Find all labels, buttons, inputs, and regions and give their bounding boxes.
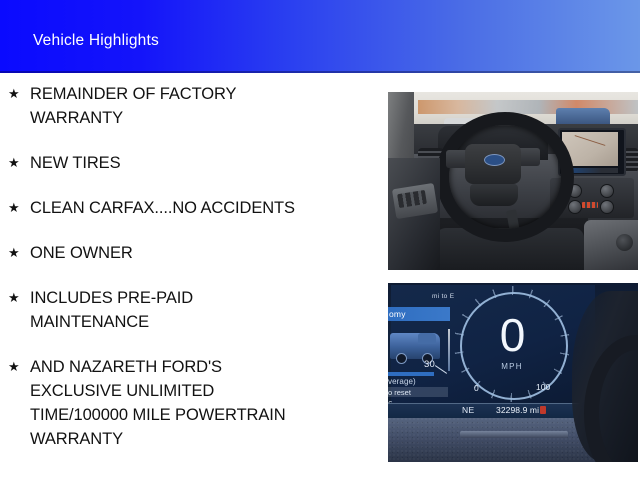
star-icon: ★ (8, 241, 30, 265)
list-item: ★ AND NAZARETH FORD'S EXCLUSIVE UNLIMITE… (0, 355, 380, 451)
vertical-gauge-bar (448, 329, 450, 371)
climate-knob-icon (600, 200, 614, 214)
highlight-text: REMAINDER OF FACTORY WARRANTY (30, 82, 380, 130)
star-icon: ★ (8, 196, 30, 220)
highlights-list: ★ REMAINDER OF FACTORY WARRANTY ★ NEW TI… (0, 82, 380, 472)
odometer-value: 32298.9 mi (496, 405, 539, 415)
fuel-warning-icon (540, 406, 546, 414)
defroster-vent (460, 431, 568, 438)
star-icon: ★ (8, 355, 30, 379)
highlight-text: NEW TIRES (30, 151, 380, 175)
page-title: Vehicle Highlights (33, 31, 159, 50)
speed-unit-label: MPH (460, 362, 564, 371)
cup-holder-icon (616, 234, 633, 251)
highlight-text: AND NAZARETH FORD'S EXCLUSIVE UNLIMITED … (30, 355, 380, 451)
climate-buttons (582, 202, 598, 208)
truck-cab-icon (418, 333, 436, 344)
compass-heading: NE (462, 405, 475, 415)
highlight-text: ONE OWNER (30, 241, 380, 265)
highlight-text: INCLUDES PRE-PAID MAINTENANCE (30, 286, 380, 334)
trip-value: 30 (424, 359, 435, 370)
list-item: ★ CLEAN CARFAX....NO ACCIDENTS (0, 196, 380, 220)
cluster-footer-bar (388, 403, 595, 418)
header-divider (0, 71, 640, 73)
climate-knob-icon (568, 200, 582, 214)
economy-label: omy (389, 309, 406, 319)
economy-bar-graph (388, 372, 434, 376)
star-icon: ★ (8, 151, 30, 175)
ford-badge-icon (484, 154, 505, 166)
air-vent-right (624, 148, 638, 172)
star-icon: ★ (8, 82, 30, 106)
photo-column: mi to E omy 30 verage) o reset 6 0 MPH 0… (388, 92, 638, 462)
reset-label: o reset (388, 388, 411, 397)
gauge-min-label: 0 (474, 383, 479, 393)
list-item: ★ ONE OWNER (0, 241, 380, 265)
vehicle-interior-photo (388, 92, 638, 270)
climate-knob-icon (600, 184, 614, 198)
range-label: mi to E (432, 293, 454, 300)
average-label: verage) (388, 377, 416, 386)
highlight-text: CLEAN CARFAX....NO ACCIDENTS (30, 196, 380, 220)
steering-wheel-lower-spoke (470, 184, 518, 206)
instrument-cluster-photo: mi to E omy 30 verage) o reset 6 0 MPH 0… (388, 283, 638, 462)
vehicle-highlights-page: Vehicle Highlights ★ REMAINDER OF FACTOR… (0, 0, 640, 480)
list-item: ★ INCLUDES PRE-PAID MAINTENANCE (0, 286, 380, 334)
star-icon: ★ (8, 286, 30, 310)
list-item: ★ NEW TIRES (0, 151, 380, 175)
list-item: ★ REMAINDER OF FACTORY WARRANTY (0, 82, 380, 130)
header-banner: Vehicle Highlights (0, 0, 640, 73)
truck-wheel-icon (396, 353, 407, 364)
speed-value: 0 (460, 309, 564, 361)
gauge-max-label: 100 (536, 382, 550, 392)
